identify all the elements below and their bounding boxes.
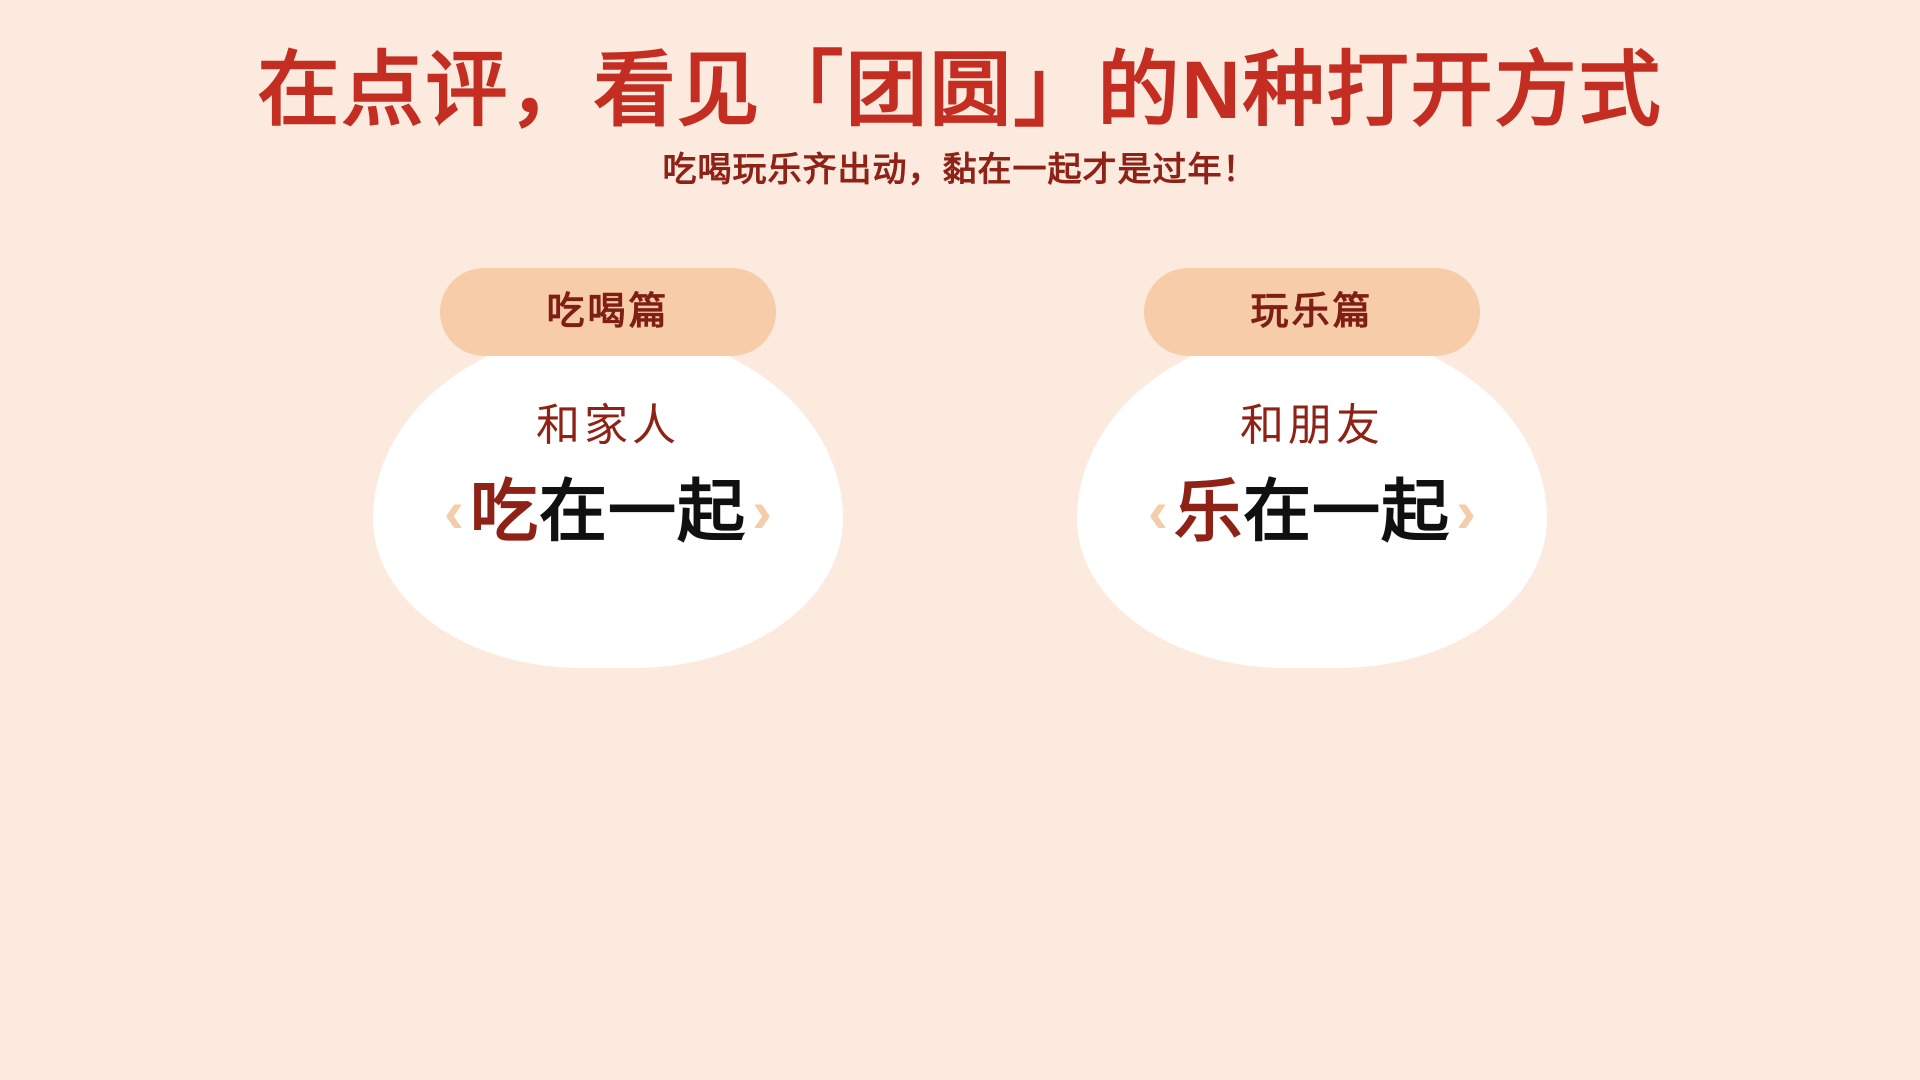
- card-headline-rest: 在一起: [539, 478, 746, 546]
- card-headline-accent: 乐: [1174, 478, 1243, 546]
- chevron-left-icon: ‹: [1142, 482, 1174, 542]
- chevron-right-icon: ›: [746, 482, 778, 542]
- poster-page: 在点评，看见「团圆」的N种打开方式 吃喝玩乐齐出动，黏在一起才是过年！ 吃喝篇 …: [0, 0, 1920, 1080]
- card-eat-drink[interactable]: 吃喝篇 和家人 ‹ 吃 在一起 ›: [373, 268, 843, 668]
- card-headline: ‹ 吃 在一起 ›: [438, 478, 778, 546]
- card-badge-label: 玩乐篇: [1250, 293, 1373, 331]
- card-body: 和朋友 ‹ 乐 在一起 ›: [1077, 330, 1547, 668]
- card-badge-eat-drink[interactable]: 吃喝篇: [440, 268, 776, 356]
- card-headline-accent: 吃: [470, 478, 539, 546]
- card-body: 和家人 ‹ 吃 在一起 ›: [373, 330, 843, 668]
- card-kicker: 和朋友: [1240, 404, 1384, 448]
- chevron-right-icon: ›: [1450, 482, 1482, 542]
- card-play-fun[interactable]: 玩乐篇 和朋友 ‹ 乐 在一起 ›: [1077, 268, 1547, 668]
- card-list: 吃喝篇 和家人 ‹ 吃 在一起 › 玩乐篇 和朋友 ‹: [0, 268, 1920, 668]
- card-badge-label: 吃喝篇: [546, 293, 669, 331]
- page-title: 在点评，看见「团圆」的N种打开方式: [0, 0, 1920, 134]
- card-kicker: 和家人: [536, 404, 680, 448]
- card-headline-rest: 在一起: [1243, 478, 1450, 546]
- card-badge-play-fun[interactable]: 玩乐篇: [1144, 268, 1480, 356]
- card-headline: ‹ 乐 在一起 ›: [1142, 478, 1482, 546]
- page-subtitle: 吃喝玩乐齐出动，黏在一起才是过年！: [0, 134, 1920, 191]
- chevron-left-icon: ‹: [438, 482, 470, 542]
- poster-header: 在点评，看见「团圆」的N种打开方式 吃喝玩乐齐出动，黏在一起才是过年！: [0, 0, 1920, 191]
